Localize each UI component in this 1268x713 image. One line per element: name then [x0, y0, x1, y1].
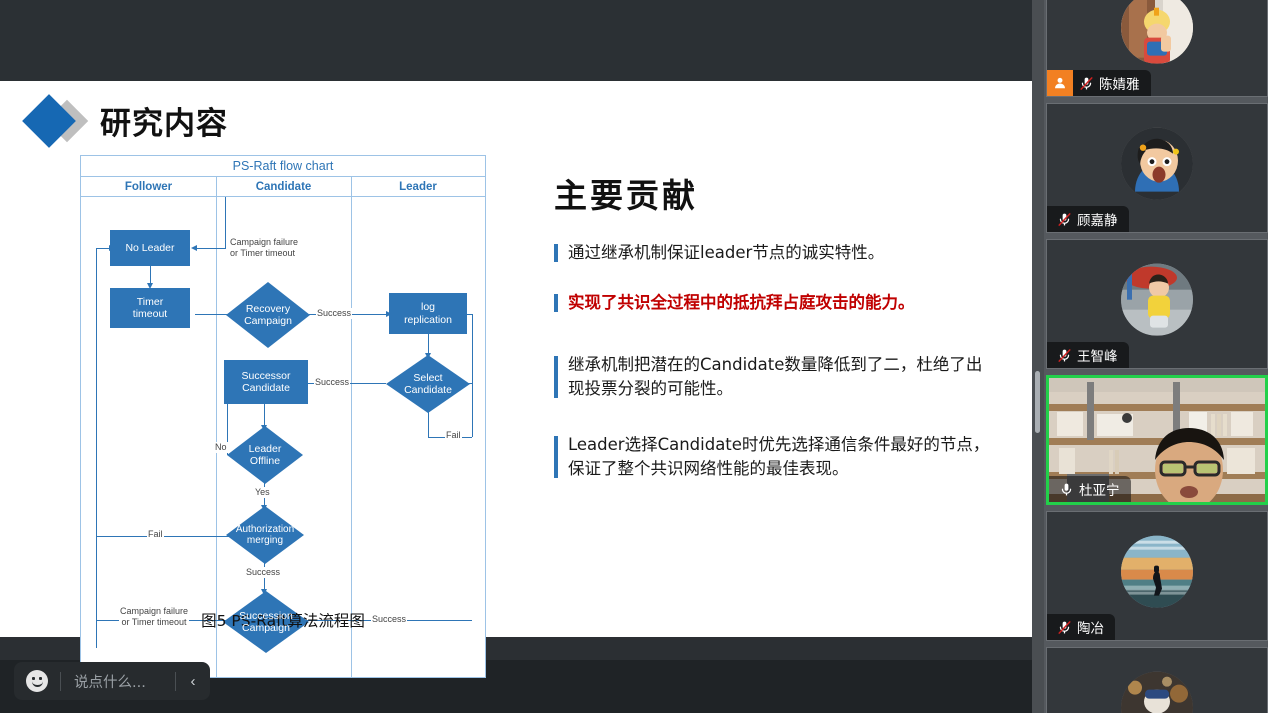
meeting-window: 研究内容 PS-Raft flow chart Follower Candida… [0, 0, 1268, 713]
column-divider-2 [351, 177, 352, 677]
node-log-replication: log replication [389, 293, 467, 334]
column-divider-1 [216, 177, 217, 677]
avatar [1121, 536, 1193, 608]
participant-nameplate: 杜亚宁 [1049, 476, 1131, 502]
arrow-to-no-leader [191, 245, 197, 251]
participant-name: 陶冶 [1077, 617, 1104, 637]
chat-input-placeholder[interactable]: 说点什么... [74, 671, 163, 692]
avatar [1121, 672, 1193, 713]
node-recovery-campaign: Recovery Campaign [226, 282, 310, 348]
participant-tile[interactable]: 陈婧雅 [1046, 0, 1268, 97]
letterbox-top [0, 0, 1032, 81]
smiley-icon[interactable] [26, 670, 48, 692]
contribution-item-4: Leader选择Candidate时优先选择通信条件最好的节点，保证了整个共识网… [554, 433, 994, 481]
avatar [1121, 0, 1193, 64]
edge-fail-rail-up [472, 314, 473, 437]
contributions-section: 主要贡献 通过继承机制保证leader节点的诚实特性。 实现了共识全过程中的抵抗… [554, 169, 994, 507]
flow-chart-title: PS-Raft flow chart [81, 156, 485, 177]
participant-name: 陈婧雅 [1099, 73, 1140, 93]
edge-auth-fail [96, 536, 237, 537]
participant-name: 王智峰 [1077, 345, 1118, 365]
chat-divider-1 [60, 672, 61, 691]
participant-nameplate: 陈婧雅 [1047, 70, 1151, 96]
participants-sidebar[interactable]: 陈婧雅 [1032, 0, 1268, 713]
mic-muted-icon [1051, 620, 1077, 635]
edge-label-fail-left: Fail [147, 529, 164, 540]
edge-label-campaign-failure-top: Campaign failure or Timer timeout [229, 237, 299, 259]
contribution-item-2: 实现了共识全过程中的抵抗拜占庭攻击的能力。 [554, 291, 994, 315]
ps-raft-flow-chart: PS-Raft flow chart Follower Candidate Le… [80, 155, 486, 678]
participant-nameplate: 陶冶 [1047, 614, 1115, 640]
sidebar-scrollbar-thumb[interactable] [1035, 371, 1040, 433]
node-authorization-merging: Authorization merging [226, 506, 304, 564]
mic-muted-icon [1073, 76, 1099, 91]
mic-muted-icon [1051, 348, 1077, 363]
participant-name: 顾嘉静 [1077, 209, 1118, 229]
node-leader-offline: Leader Offline [227, 426, 303, 484]
participant-name: 杜亚宁 [1079, 479, 1120, 499]
participant-tile[interactable]: 顾嘉静 [1046, 103, 1268, 233]
edge-left-return-rail [96, 248, 97, 648]
host-badge-icon [1047, 70, 1073, 96]
node-timer-timeout: Timer timeout [110, 288, 190, 328]
avatar [1121, 128, 1193, 200]
participant-nameplate: 王智峰 [1047, 342, 1129, 368]
chevron-left-icon[interactable]: ‹ [176, 673, 210, 690]
sidebar-scrollbar-track[interactable] [1032, 0, 1044, 713]
presentation-slide: 研究内容 PS-Raft flow chart Follower Candida… [0, 81, 1032, 637]
column-header-leader: Leader [351, 177, 485, 197]
node-no-leader: No Leader [110, 230, 190, 266]
mic-active-icon [1053, 482, 1079, 497]
edge-label-success-1: Success [316, 308, 352, 319]
shared-screen-stage[interactable]: 研究内容 PS-Raft flow chart Follower Candida… [0, 0, 1032, 713]
participant-tile[interactable] [1046, 647, 1268, 713]
edge-label-fail-right: Fail [445, 430, 462, 441]
slide-title-text: 研究内容 [100, 98, 228, 143]
participant-tile[interactable]: 王智峰 [1046, 239, 1268, 369]
node-select-candidate: Select Candidate [386, 355, 470, 413]
chat-input-bar[interactable]: 说点什么... ‹ [14, 662, 210, 700]
edge-to-no-leader [197, 248, 225, 249]
diamond-emblem-icon [28, 99, 84, 143]
edge-select-fail-down [428, 411, 429, 437]
edge-label-success-2: Success [314, 377, 350, 388]
slide-title: 研究内容 [28, 98, 228, 143]
edge-left-rail-to-noleader [96, 248, 110, 249]
node-successor-candidate: Successor Candidate [224, 360, 308, 404]
contributions-heading: 主要贡献 [554, 169, 994, 217]
column-header-candidate: Candidate [216, 177, 351, 197]
edge-label-yes: Yes [254, 487, 271, 498]
participant-tile-list: 陈婧雅 [1046, 0, 1268, 713]
mic-muted-icon [1051, 212, 1077, 227]
contribution-item-3: 继承机制把潜在的Candidate数量降低到了二，杜绝了出现投票分裂的可能性。 [554, 353, 994, 401]
participant-tile[interactable]: 陶冶 [1046, 511, 1268, 641]
edge-candidate-top-stub [225, 197, 226, 249]
contribution-item-1: 通过继承机制保证leader节点的诚实特性。 [554, 241, 994, 265]
edge-label-success-auth: Success [245, 567, 281, 578]
participant-tile-active-speaker[interactable]: 杜亚宁 [1046, 375, 1268, 505]
edge-label-no: No [214, 442, 228, 453]
avatar [1121, 264, 1193, 336]
flow-chart-column-headers: Follower Candidate Leader [81, 177, 485, 197]
participant-nameplate: 顾嘉静 [1047, 206, 1129, 232]
column-header-follower: Follower [81, 177, 216, 197]
